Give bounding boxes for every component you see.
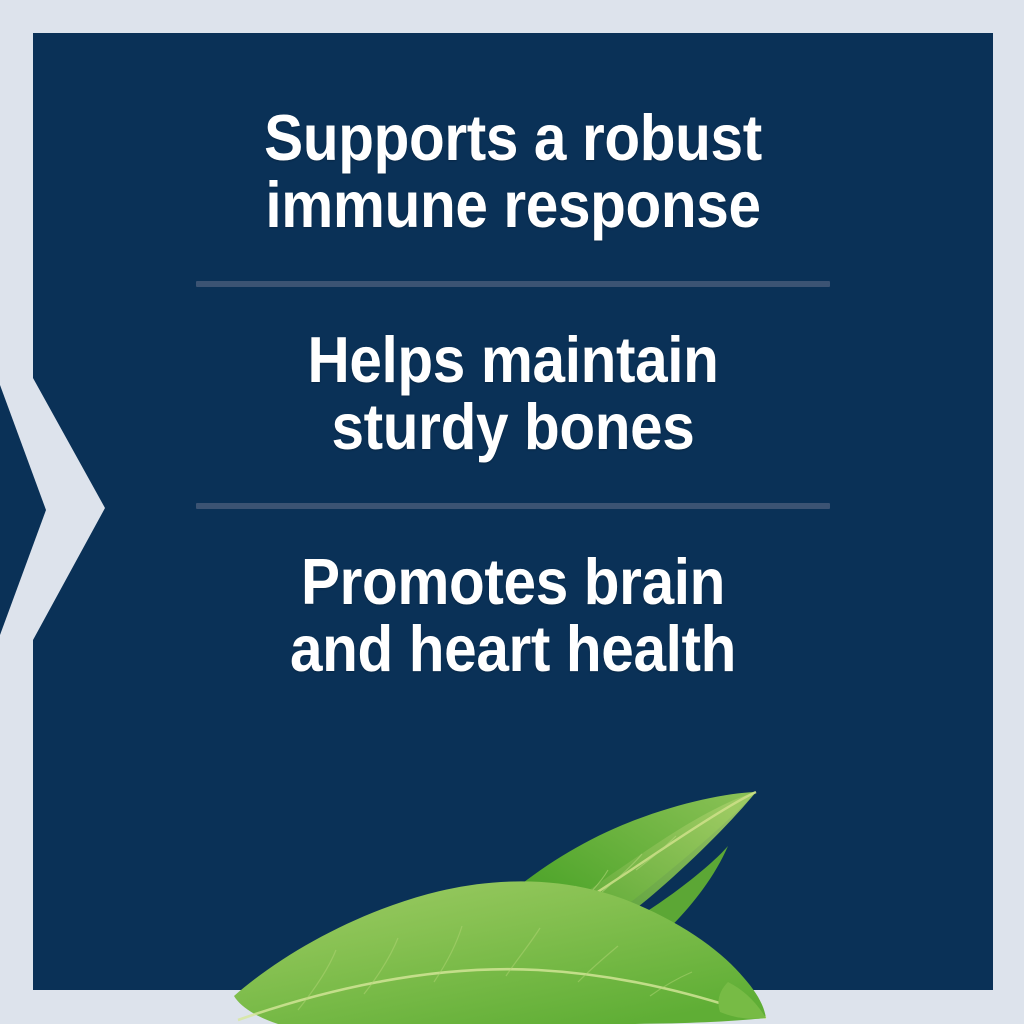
divider-1 [196, 281, 830, 287]
benefit-item-bones: Helps maintain sturdy bones [227, 327, 799, 461]
benefit-line: sturdy bones [227, 394, 799, 461]
benefits-list: Supports a robust immune response Helps … [33, 33, 993, 990]
divider-2 [196, 503, 830, 509]
benefit-line: Promotes brain [227, 549, 799, 616]
benefit-item-brain-heart: Promotes brain and heart health [227, 549, 799, 683]
benefit-line: Supports a robust [227, 105, 799, 172]
benefit-line: and heart health [227, 616, 799, 683]
benefit-line: Helps maintain [227, 327, 799, 394]
benefit-item-immune: Supports a robust immune response [227, 105, 799, 239]
benefit-line: immune response [227, 172, 799, 239]
promo-banner: Supports a robust immune response Helps … [0, 0, 1024, 1024]
